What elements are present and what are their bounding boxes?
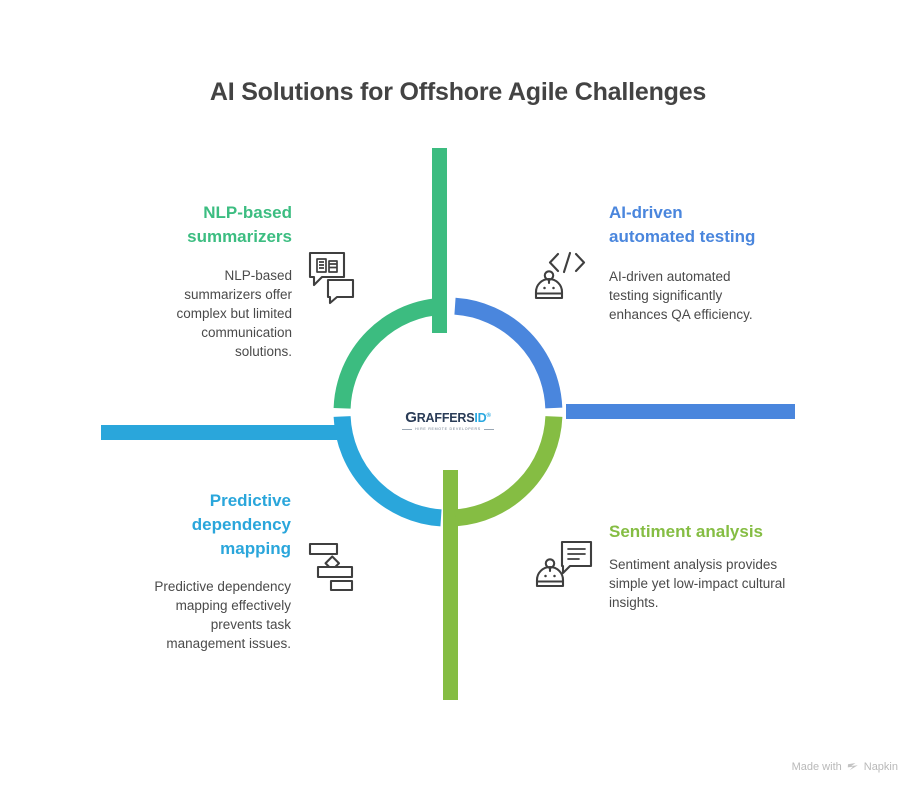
- logo-word: RAFFERS: [417, 411, 475, 425]
- quadrant-body-sentiment: Sentiment analysis provides simple yet l…: [609, 555, 799, 612]
- quadrant-body-testing: AI-driven automated testing significantl…: [609, 267, 759, 324]
- chat-document-icon: [310, 253, 353, 303]
- logo-id: ID: [474, 411, 486, 425]
- quadrant-block-mapping: Predictive dependency mapping Predictive…: [131, 489, 291, 653]
- logo-registered-mark: ®: [486, 413, 490, 419]
- arc-top-right: [455, 306, 554, 408]
- arm-right: [566, 404, 795, 419]
- quadrant-heading-sentiment: Sentiment analysis: [609, 520, 799, 544]
- quadrant-body-mapping: Predictive dependency mapping effectivel…: [131, 577, 291, 653]
- arm-left: [101, 425, 351, 440]
- arc-top-left: [342, 306, 444, 408]
- logo-rule-left: [402, 429, 412, 430]
- quadrant-block-nlp: NLP-based summarizers NLP-based summariz…: [148, 201, 292, 361]
- quadrant-heading-nlp: NLP-based summarizers: [148, 201, 292, 249]
- quadrant-heading-testing: AI-driven automated testing: [609, 201, 759, 249]
- logo-tagline: HIRE REMOTE DEVELOPERS: [415, 427, 481, 431]
- quadrant-block-testing: AI-driven automated testing AI-driven au…: [609, 201, 759, 324]
- quadrant-heading-mapping: Predictive dependency mapping: [131, 489, 291, 561]
- hub-and-spoke-diagram: [0, 0, 916, 795]
- logo-wordmark: GRAFFERSID®: [398, 409, 498, 425]
- made-with-napkin-footer: Made with Napkin: [792, 761, 898, 773]
- footer-brand-label: Napkin: [864, 761, 898, 773]
- robot-code-icon: [536, 253, 584, 298]
- quadrant-body-nlp: NLP-based summarizers offer complex but …: [148, 266, 292, 361]
- logo-tagline-row: HIRE REMOTE DEVELOPERS: [398, 426, 498, 432]
- arm-bottom: [443, 470, 458, 700]
- quadrant-block-sentiment: Sentiment analysis Sentiment analysis pr…: [609, 520, 799, 612]
- diagram-canvas: AI Solutions for Offshore Agile Challeng…: [0, 0, 916, 795]
- footer-made-with-label: Made with: [792, 761, 842, 773]
- logo-initial: G: [405, 409, 416, 426]
- center-logo: GRAFFERSID® HIRE REMOTE DEVELOPERS: [398, 409, 498, 439]
- napkin-logo-icon: [847, 761, 859, 773]
- gantt-chart-icon: [310, 544, 352, 590]
- logo-rule-right: [484, 429, 494, 430]
- robot-feedback-icon: [537, 542, 591, 586]
